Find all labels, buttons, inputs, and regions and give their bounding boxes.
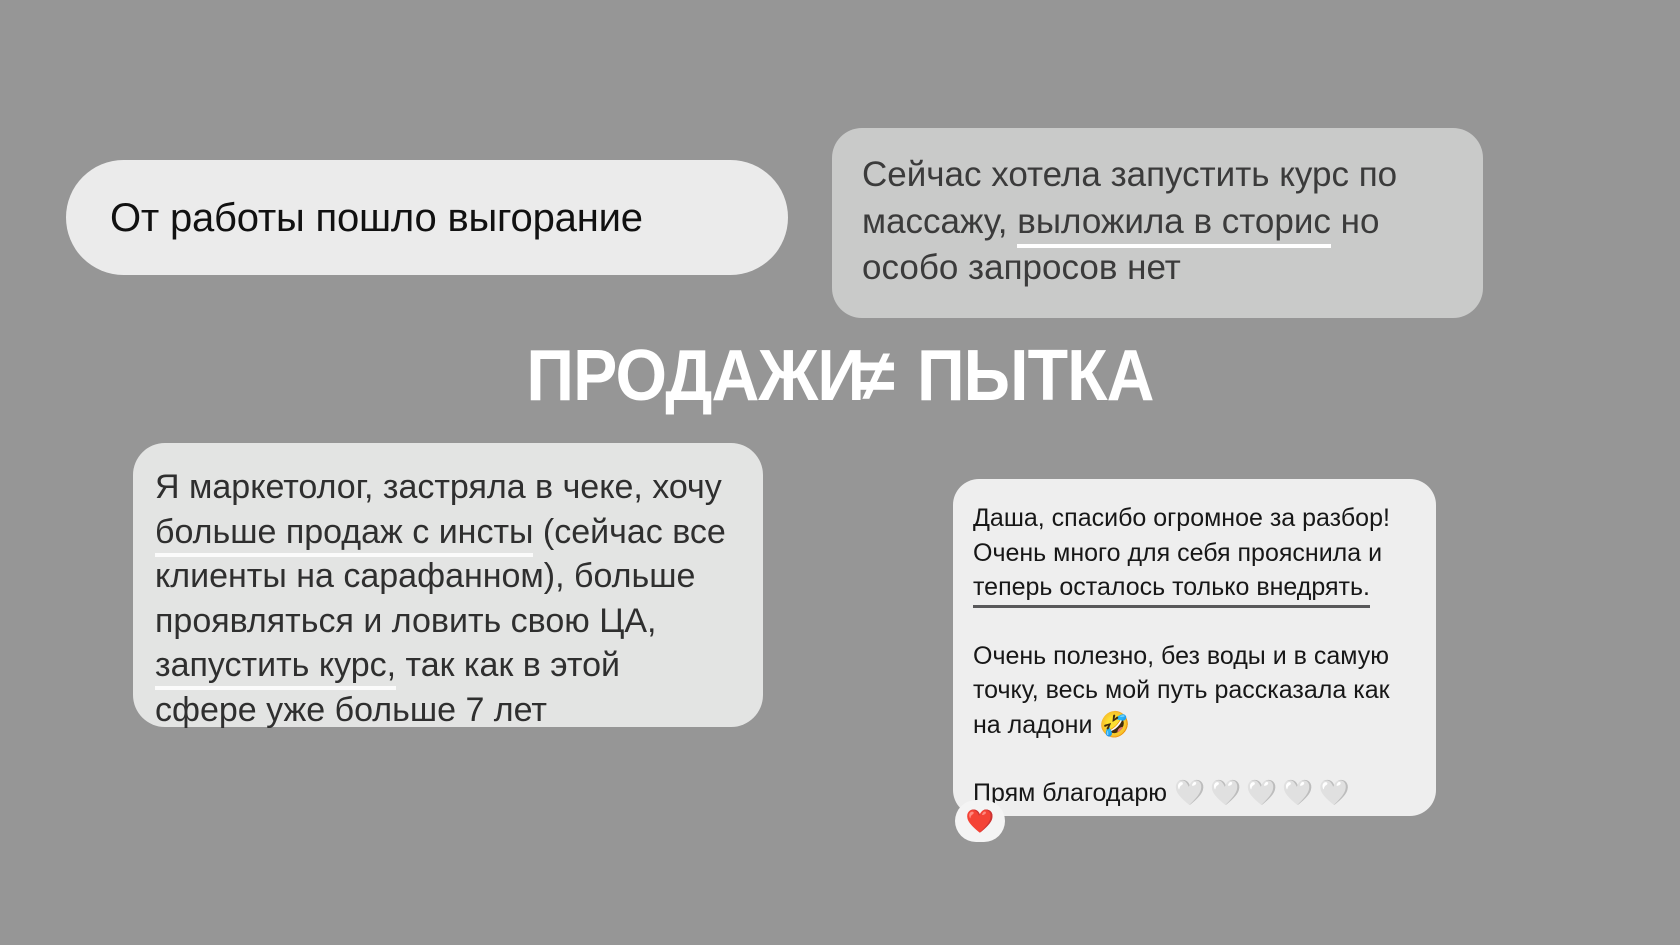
testimonial-p1-line-2: Очень много для себя прояснила и bbox=[973, 539, 1382, 567]
burnout-text: От работы пошло выгорание bbox=[110, 195, 643, 241]
testimonial-paragraph-gap-2 bbox=[973, 742, 1416, 776]
headline-not-equal-symbol: ≠ bbox=[859, 340, 894, 412]
testimonial-paragraph-1: Даша, спасибо огромное за разбор! Очень … bbox=[973, 501, 1416, 605]
red-heart-icon: ❤️ bbox=[966, 810, 995, 833]
launch-line-2-tail: но bbox=[1341, 202, 1380, 241]
testimonial-p2-line-2: точку, весь мой путь рассказала как bbox=[973, 676, 1390, 704]
testimonial-text: Даша, спасибо огромное за разбор! Очень … bbox=[973, 501, 1416, 811]
testimonial-p1-line-1: Даша, спасибо огромное за разбор! bbox=[973, 504, 1390, 532]
marketer-line-2-tail: (сейчас все bbox=[533, 513, 725, 551]
testimonial-p2-line-1: Очень полезно, без воды и в самую bbox=[973, 642, 1389, 670]
marketer-line-2-highlight: больше продаж с инсты bbox=[155, 513, 533, 557]
testimonial-paragraph-2: Очень полезно, без воды и в самую точку,… bbox=[973, 639, 1416, 743]
message-bubble-launch: Сейчас хотела запустить курс по массажу,… bbox=[832, 128, 1483, 318]
headline-part-2: ПЫТКА bbox=[917, 336, 1154, 416]
message-bubble-marketer: Я маркетолог, застряла в чеке, хочу боль… bbox=[133, 443, 763, 727]
launch-text: Сейчас хотела запустить курс по массажу,… bbox=[862, 152, 1453, 292]
marketer-line-4: проявляться и ловить свою ЦА, bbox=[155, 602, 656, 640]
testimonial-paragraph-3: Прям благодарю 🤍🤍🤍🤍🤍 bbox=[973, 776, 1416, 811]
white-heart-icons: 🤍🤍🤍🤍🤍 bbox=[1174, 779, 1355, 807]
headline: ПРОДАЖИ≠ ПЫТКА bbox=[67, 340, 1613, 412]
story-canvas: От работы пошло выгорание Сейчас хотела … bbox=[0, 0, 1680, 945]
message-bubble-burnout: От работы пошло выгорание bbox=[66, 160, 788, 275]
marketer-line-1: Я маркетолог, застряла в чеке, хочу bbox=[155, 468, 722, 506]
launch-line-1: Сейчас хотела запустить курс по bbox=[862, 155, 1397, 194]
marketer-line-5-tail: так как в этой bbox=[396, 646, 620, 684]
marketer-text: Я маркетолог, застряла в чеке, хочу боль… bbox=[155, 465, 735, 732]
testimonial-p3-text: Прям благодарю bbox=[973, 779, 1167, 807]
marketer-line-3: клиенты на сарафанном), больше bbox=[155, 557, 695, 595]
message-bubble-testimonial: Даша, спасибо огромное за разбор! Очень … bbox=[953, 479, 1436, 816]
launch-line-3: особо запросов нет bbox=[862, 248, 1181, 287]
reaction-badge-heart[interactable]: ❤️ bbox=[955, 800, 1005, 842]
launch-line-2-plain: массажу, bbox=[862, 202, 1008, 241]
launch-line-2-highlight: выложила в сторис bbox=[1017, 202, 1331, 248]
rolling-laughing-emoji: 🤣 bbox=[1099, 711, 1130, 739]
marketer-line-6: сфере уже больше 7 лет bbox=[155, 691, 547, 729]
testimonial-paragraph-gap-1 bbox=[973, 605, 1416, 639]
marketer-line-5-highlight: запустить курс, bbox=[155, 646, 396, 690]
testimonial-p2-line-3: на ладони bbox=[973, 711, 1092, 739]
headline-part-1: ПРОДАЖИ bbox=[526, 336, 864, 416]
testimonial-p1-line-3-highlight: теперь осталось только внедрять. bbox=[973, 573, 1370, 608]
